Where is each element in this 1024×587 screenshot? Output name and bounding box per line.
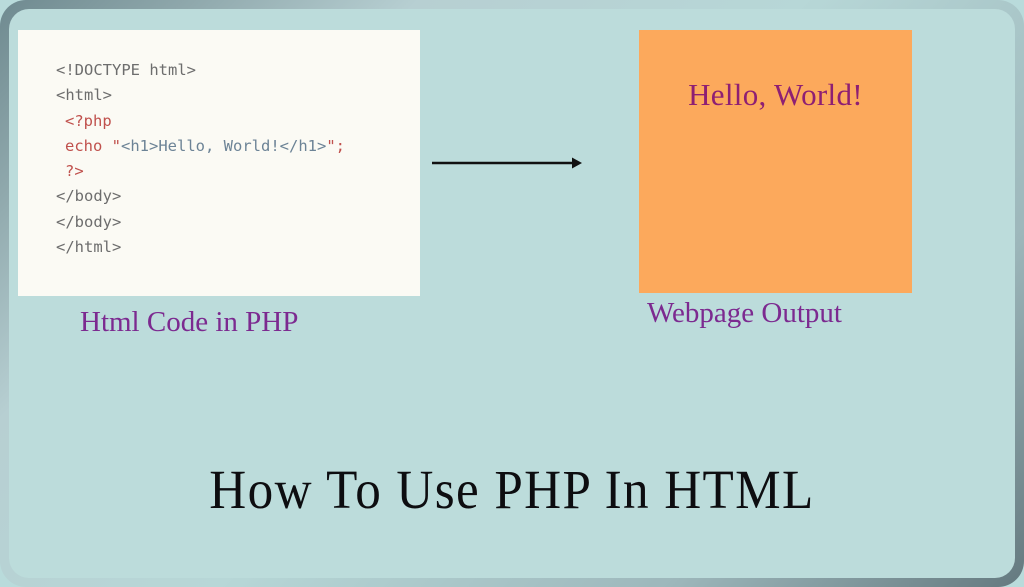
- code-line: ?>: [56, 159, 420, 184]
- code-line: </html>: [56, 235, 420, 260]
- code-token-str: ";: [326, 137, 345, 155]
- code-token-php: ?>: [65, 162, 84, 180]
- code-line: <html>: [56, 83, 420, 108]
- infographic-canvas: <!DOCTYPE html><html><?phpecho "<h1>Hell…: [0, 0, 1024, 587]
- code-line: <?php: [56, 109, 420, 134]
- code-token-embed: <h1>Hello, World!</h1>: [121, 137, 326, 155]
- code-panel-caption: Html Code in PHP: [80, 306, 298, 339]
- output-panel-caption: Webpage Output: [647, 297, 842, 330]
- page-title: How To Use PHP In HTML: [44, 459, 980, 521]
- webpage-output-panel: Hello, World!: [639, 30, 912, 293]
- php-code-panel: <!DOCTYPE html><html><?phpecho "<h1>Hell…: [18, 30, 420, 296]
- code-token-markup: </html>: [56, 238, 121, 256]
- arrow-right-icon: [432, 153, 582, 173]
- code-token-str: ": [112, 137, 121, 155]
- code-token-markup: </body>: [56, 213, 121, 231]
- code-line: <!DOCTYPE html>: [56, 58, 420, 83]
- code-token-php: <?php: [65, 112, 112, 130]
- code-line: </body>: [56, 184, 420, 209]
- code-token-php: echo: [65, 137, 112, 155]
- rendered-h1-heading: Hello, World!: [639, 30, 912, 113]
- code-token-markup: </body>: [56, 187, 121, 205]
- flow-arrow: [432, 153, 582, 173]
- code-line: echo "<h1>Hello, World!</h1>";: [56, 134, 420, 159]
- code-token-markup: <!DOCTYPE html>: [56, 61, 196, 79]
- code-token-markup: <html>: [56, 86, 112, 104]
- infographic-inner-surface: <!DOCTYPE html><html><?phpecho "<h1>Hell…: [9, 9, 1015, 578]
- code-line: </body>: [56, 210, 420, 235]
- php-code-listing: <!DOCTYPE html><html><?phpecho "<h1>Hell…: [56, 58, 420, 260]
